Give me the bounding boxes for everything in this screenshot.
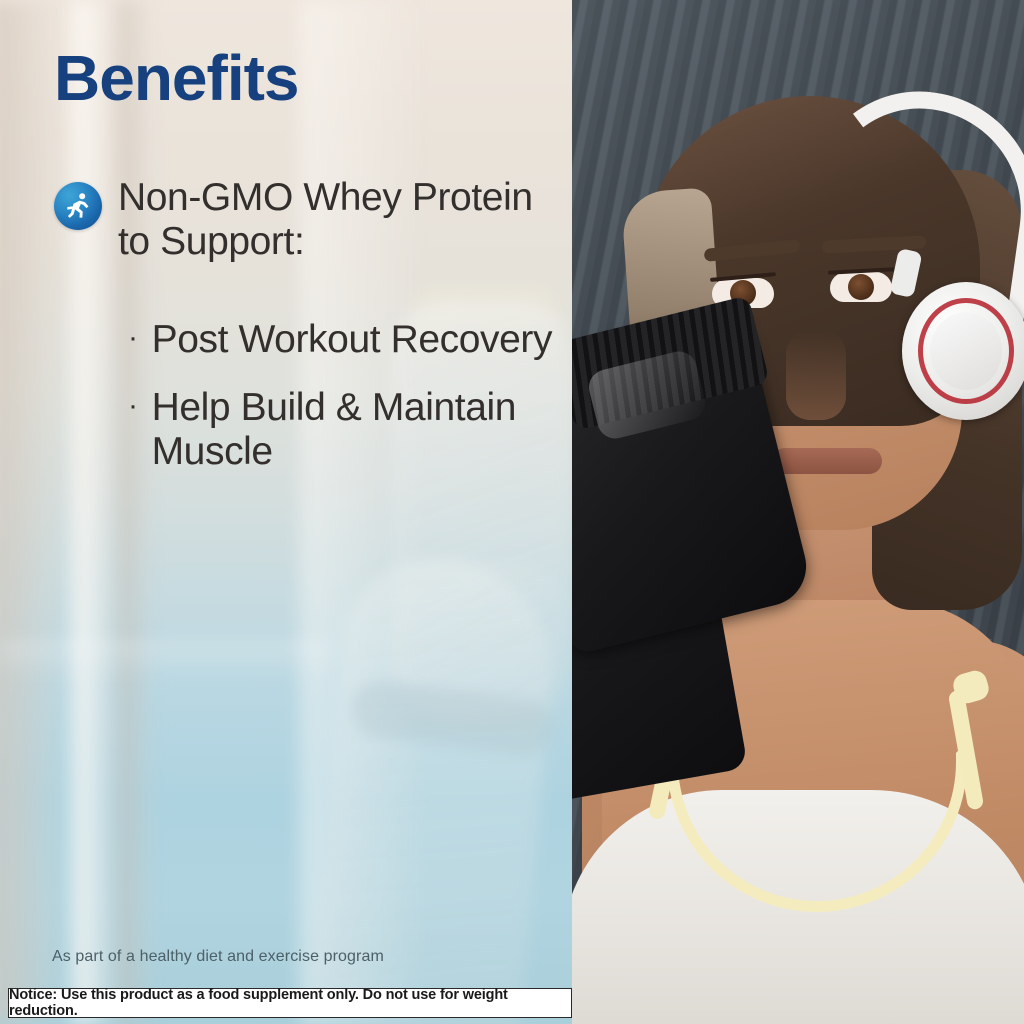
headphones-earcup-inner bbox=[930, 312, 1002, 390]
diet-disclaimer: As part of a healthy diet and exercise p… bbox=[52, 948, 384, 966]
lead-benefit-row: Non-GMO Whey Protein to Support: bbox=[54, 176, 554, 265]
list-item: · Post Workout Recovery bbox=[128, 318, 568, 362]
product-benefits-poster: Benefits Non-GMO Whey Protein to Support… bbox=[0, 0, 1024, 1024]
benefits-panel: Benefits Non-GMO Whey Protein to Support… bbox=[0, 0, 572, 1024]
list-item: · Help Build & Maintain Muscle bbox=[128, 386, 568, 474]
benefit-list: · Post Workout Recovery · Help Build & M… bbox=[128, 318, 568, 498]
benefits-content: Benefits Non-GMO Whey Protein to Support… bbox=[0, 0, 572, 1024]
lead-benefit-text: Non-GMO Whey Protein to Support: bbox=[118, 176, 554, 265]
page-title: Benefits bbox=[54, 46, 299, 110]
bullet-marker: · bbox=[128, 318, 138, 359]
bullet-text: Post Workout Recovery bbox=[152, 318, 568, 362]
running-person-icon bbox=[54, 182, 102, 230]
notice-text: Notice: Use this product as a food suppl… bbox=[9, 987, 571, 1019]
model-figure bbox=[572, 0, 1024, 1024]
product-notice-bar: Notice: Use this product as a food suppl… bbox=[8, 988, 572, 1018]
lifestyle-photo bbox=[572, 0, 1024, 1024]
model-lips bbox=[772, 448, 882, 474]
model-nose bbox=[786, 330, 846, 420]
bullet-marker: · bbox=[128, 386, 138, 427]
bullet-text: Help Build & Maintain Muscle bbox=[152, 386, 568, 474]
